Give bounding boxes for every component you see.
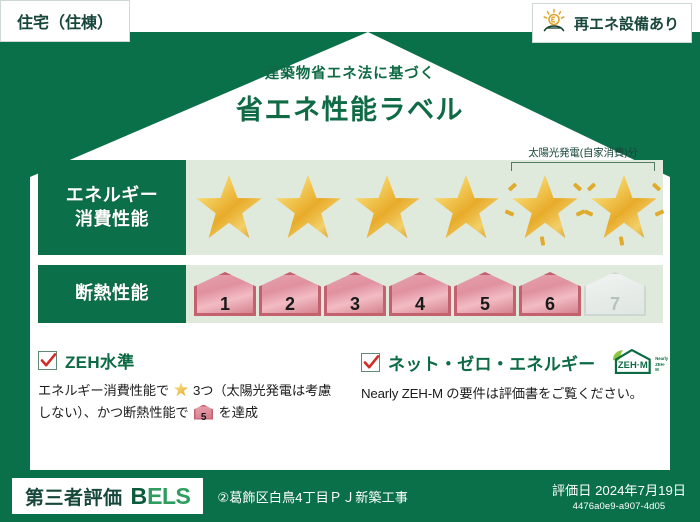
energy-consumption-row: エネルギー 消費性能 <box>38 160 663 255</box>
star-rating-group <box>188 160 663 255</box>
criteria-zeh-text-3: を達成 <box>219 405 258 420</box>
insulation-label-text: 断熱性能 <box>75 282 149 305</box>
criteria-zeh-standard: ZEH水準 エネルギー消費性能で 3つ（太陽光発電は考慮しない）、かつ断熱性能で… <box>38 348 343 423</box>
project-name: ②葛飾区白鳥4丁目ＰＪ新築工事 <box>217 487 408 506</box>
solar-contribution-annotation: 太陽光発電(自家消費)分 <box>508 145 658 171</box>
criteria-net-zero-energy: ネット・ゼロ・エネルギー ZEH·M Nearly ZEH-M Nearly Z… <box>361 348 666 423</box>
svg-text:ZEH·M: ZEH·M <box>618 359 648 370</box>
bels-logo-els: ELS <box>147 483 190 509</box>
insulation-badge-group: 1 2 3 4 5 6 7 <box>194 265 663 323</box>
footer-bar: 第三者評価 BELS ②葛飾区白鳥4丁目ＰＪ新築工事 評価日 2024年7月19… <box>0 470 700 522</box>
insulation-badge-1-value: 1 <box>220 295 230 313</box>
star-icon-inline <box>173 382 188 397</box>
page-title: 省エネ性能ラベル <box>0 88 700 127</box>
insulation-badge-5: 5 <box>454 272 516 316</box>
zeh-m-sub-line1: Nearly <box>655 356 668 361</box>
zeh-m-logo-sub: Nearly ZEH-M <box>655 356 668 376</box>
check-icon-net-zero <box>361 353 380 372</box>
criteria-zeh-description: エネルギー消費性能で 3つ（太陽光発電は考慮しない）、かつ断熱性能で 5 を達成 <box>38 380 343 423</box>
insulation-badge-2: 2 <box>259 272 321 316</box>
insulation-badge-3: 3 <box>324 272 386 316</box>
evaluation-id: 4476a0e9-a907-4d05 <box>552 501 686 512</box>
criteria-zeh-title: ZEH水準 <box>65 348 135 373</box>
star-2 <box>269 169 347 247</box>
zeh-m-sub-line2: ZEH-M <box>655 362 665 372</box>
solar-annotation-bracket <box>511 162 655 171</box>
renewable-energy-label: 再エネ設備あり <box>574 13 679 34</box>
evaluation-date: 評価日 2024年7月19日 <box>552 480 686 499</box>
solar-sun-icon <box>541 8 567 39</box>
insulation-performance-label: 断熱性能 <box>38 265 186 323</box>
renewable-energy-badge: 再エネ設備あり <box>532 3 692 43</box>
star-3 <box>348 169 426 247</box>
criteria-nze-description: Nearly ZEH-M の要件は評価書をご覧ください。 <box>361 383 666 405</box>
title-subtitle: 建築物省エネ法に基づく <box>0 62 700 83</box>
title-block: 建築物省エネ法に基づく 省エネ性能ラベル <box>0 62 700 127</box>
criteria-section: ZEH水準 エネルギー消費性能で 3つ（太陽光発電は考慮しない）、かつ断熱性能で… <box>38 348 666 423</box>
bels-logo-b: B <box>131 483 148 509</box>
criteria-zeh-text-1: エネルギー消費性能で <box>38 383 169 398</box>
insulation-badge-1: 1 <box>194 272 256 316</box>
bels-logo: BELS <box>131 483 191 510</box>
housing-type-badge: 住宅（住棟） <box>0 0 130 42</box>
criteria-nze-header: ネット・ゼロ・エネルギー ZEH·M Nearly ZEH-M <box>361 348 666 376</box>
insulation-badge-4: 4 <box>389 272 451 316</box>
star-5-solar <box>506 169 584 247</box>
energy-label-line1: エネルギー <box>66 184 159 207</box>
criteria-zeh-header: ZEH水準 <box>38 348 343 373</box>
insulation-performance-row: 断熱性能 1 2 3 4 5 <box>38 265 663 323</box>
star-1 <box>190 169 268 247</box>
energy-label-line2: 消費性能 <box>75 208 149 231</box>
energy-consumption-label: エネルギー 消費性能 <box>38 160 186 255</box>
bels-certification-plate: 第三者評価 BELS <box>12 478 203 514</box>
zeh-m-logo: ZEH·M Nearly ZEH-M <box>610 348 669 376</box>
insulation-rating-body: 1 2 3 4 5 6 7 <box>186 265 663 323</box>
solar-annotation-label: 太陽光発電(自家消費)分 <box>508 145 658 160</box>
bels-third-party-label: 第三者評価 <box>25 483 123 510</box>
star-6-solar <box>585 169 663 247</box>
insulation-badge-5-value: 5 <box>480 295 490 313</box>
star-4 <box>427 169 505 247</box>
criteria-nze-title: ネット・ゼロ・エネルギー <box>388 350 596 375</box>
insulation-badge-7-value: 7 <box>610 295 620 313</box>
check-icon-zeh <box>38 351 57 370</box>
insulation-badge-7: 7 <box>584 272 646 316</box>
insulation-grade-inline-badge: 5 <box>194 405 213 420</box>
insulation-badge-4-value: 4 <box>415 295 425 313</box>
insulation-badge-6-value: 6 <box>545 295 555 313</box>
insulation-badge-3-value: 3 <box>350 295 360 313</box>
evaluation-info: 評価日 2024年7月19日 4476a0e9-a907-4d05 <box>552 480 686 512</box>
energy-rating-body <box>186 160 663 255</box>
insulation-badge-6: 6 <box>519 272 581 316</box>
insulation-badge-2-value: 2 <box>285 295 295 313</box>
insulation-grade-inline-value: 5 <box>201 412 206 423</box>
housing-type-label: 住宅（住棟） <box>17 9 113 33</box>
